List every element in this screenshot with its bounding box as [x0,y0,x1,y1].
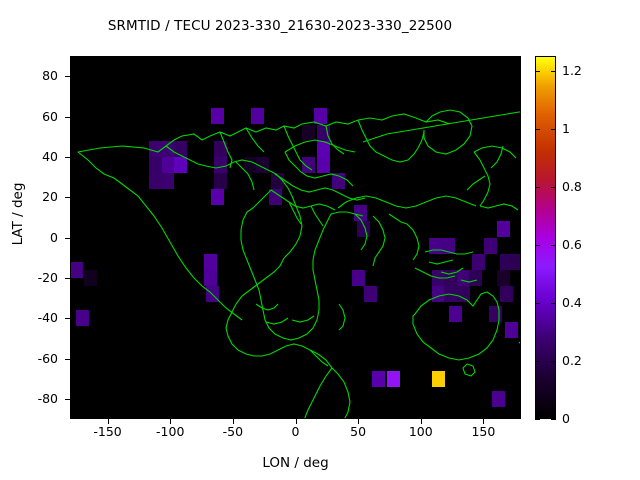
y-tick [65,238,70,239]
x-tick-label: 0 [266,424,326,439]
y-tick [65,117,70,118]
colorbar-tick [535,187,540,188]
y-tick [65,278,70,279]
y-tick [65,197,70,198]
x-tick-label: -100 [140,424,200,439]
x-tick-label: 150 [453,424,513,439]
x-tick-label: -50 [203,424,263,439]
y-tick [65,76,70,77]
x-tick-label: 50 [328,424,388,439]
y-tick-label: 60 [18,109,58,124]
y-axis-label: LAT / deg [10,144,26,284]
y-tick-label: -60 [18,351,58,366]
colorbar-tick-label: 1.2 [562,63,582,78]
colorbar-gradient [536,57,555,418]
colorbar-tick [535,245,540,246]
coastline-overlay [70,56,521,419]
colorbar-tick [551,245,556,246]
x-axis-label: LON / deg [70,455,521,471]
colorbar-tick [535,71,540,72]
colorbar-tick [551,129,556,130]
colorbar-tick-label: 0.4 [562,295,582,310]
colorbar-tick [535,361,540,362]
y-tick-label: -80 [18,391,58,406]
chart-title: SRMTID / TECU 2023-330_21630-2023-330_22… [0,18,560,34]
y-tick [65,318,70,319]
colorbar-tick [535,419,540,420]
colorbar-tick-label: 0 [562,411,570,426]
colorbar-tick-label: 0.8 [562,179,582,194]
colorbar-tick [551,187,556,188]
y-tick [65,157,70,158]
y-tick-label: -40 [18,310,58,325]
colorbar-tick [535,129,540,130]
colorbar-tick [535,303,540,304]
x-tick-label: -150 [78,424,138,439]
colorbar [535,56,556,419]
colorbar-tick-label: 1 [562,121,570,136]
colorbar-tick-label: 0.6 [562,237,582,252]
colorbar-tick-label: 0.2 [562,353,582,368]
colorbar-tick [551,71,556,72]
colorbar-tick [551,419,556,420]
figure: SRMTID / TECU 2023-330_21630-2023-330_22… [0,0,640,480]
y-tick [65,399,70,400]
y-tick [65,359,70,360]
map-plot-area [70,56,521,419]
x-tick-label: 100 [391,424,451,439]
colorbar-tick [551,361,556,362]
colorbar-tick [551,303,556,304]
y-tick-label: 80 [18,68,58,83]
